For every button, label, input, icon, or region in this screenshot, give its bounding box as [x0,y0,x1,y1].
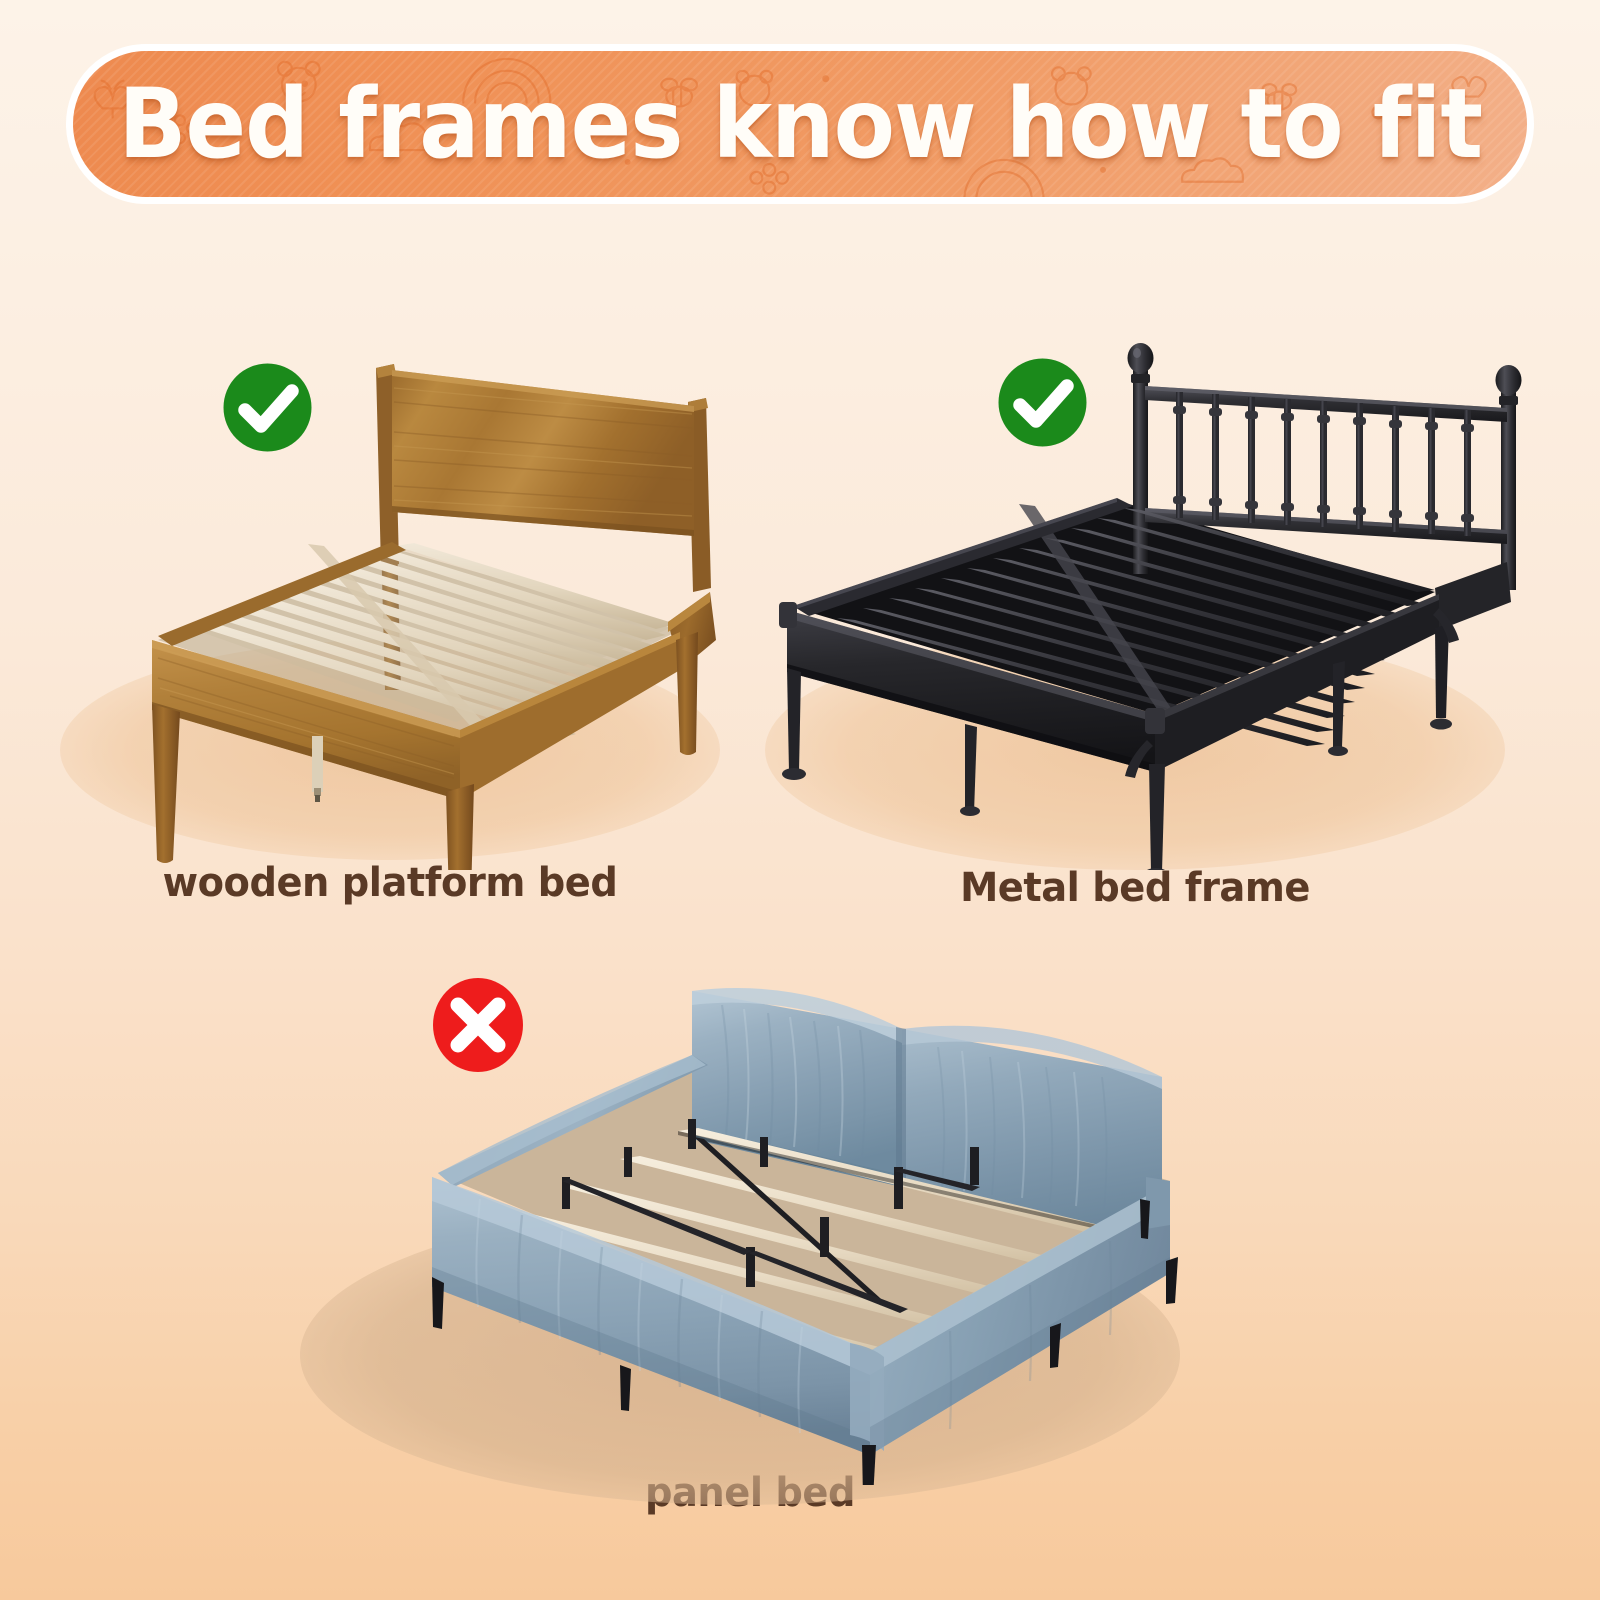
x-circle-icon [425,970,531,1080]
bed-card-panel-bed: panel bed [290,925,1210,1565]
page-title: Bed frames know how to fit [118,76,1482,172]
header-banner: Bed frames know how to fit [66,44,1534,204]
status-badge-approved [990,350,1095,459]
infographic-page: Bed frames know how to fit [0,0,1600,1600]
status-badge-rejected [425,970,531,1084]
bed-card-wooden-platform-bed: wooden platform bed [40,340,740,940]
wooden-platform-bed-illustration [40,340,740,870]
check-circle-icon [990,350,1095,455]
bed-card-metal-bed-frame: Metal bed frame [735,340,1535,940]
caption-metal-bed-frame: Metal bed frame [751,865,1519,911]
metal-bed-frame-illustration [735,340,1535,870]
check-circle-icon [215,355,320,460]
status-badge-approved [215,355,320,464]
